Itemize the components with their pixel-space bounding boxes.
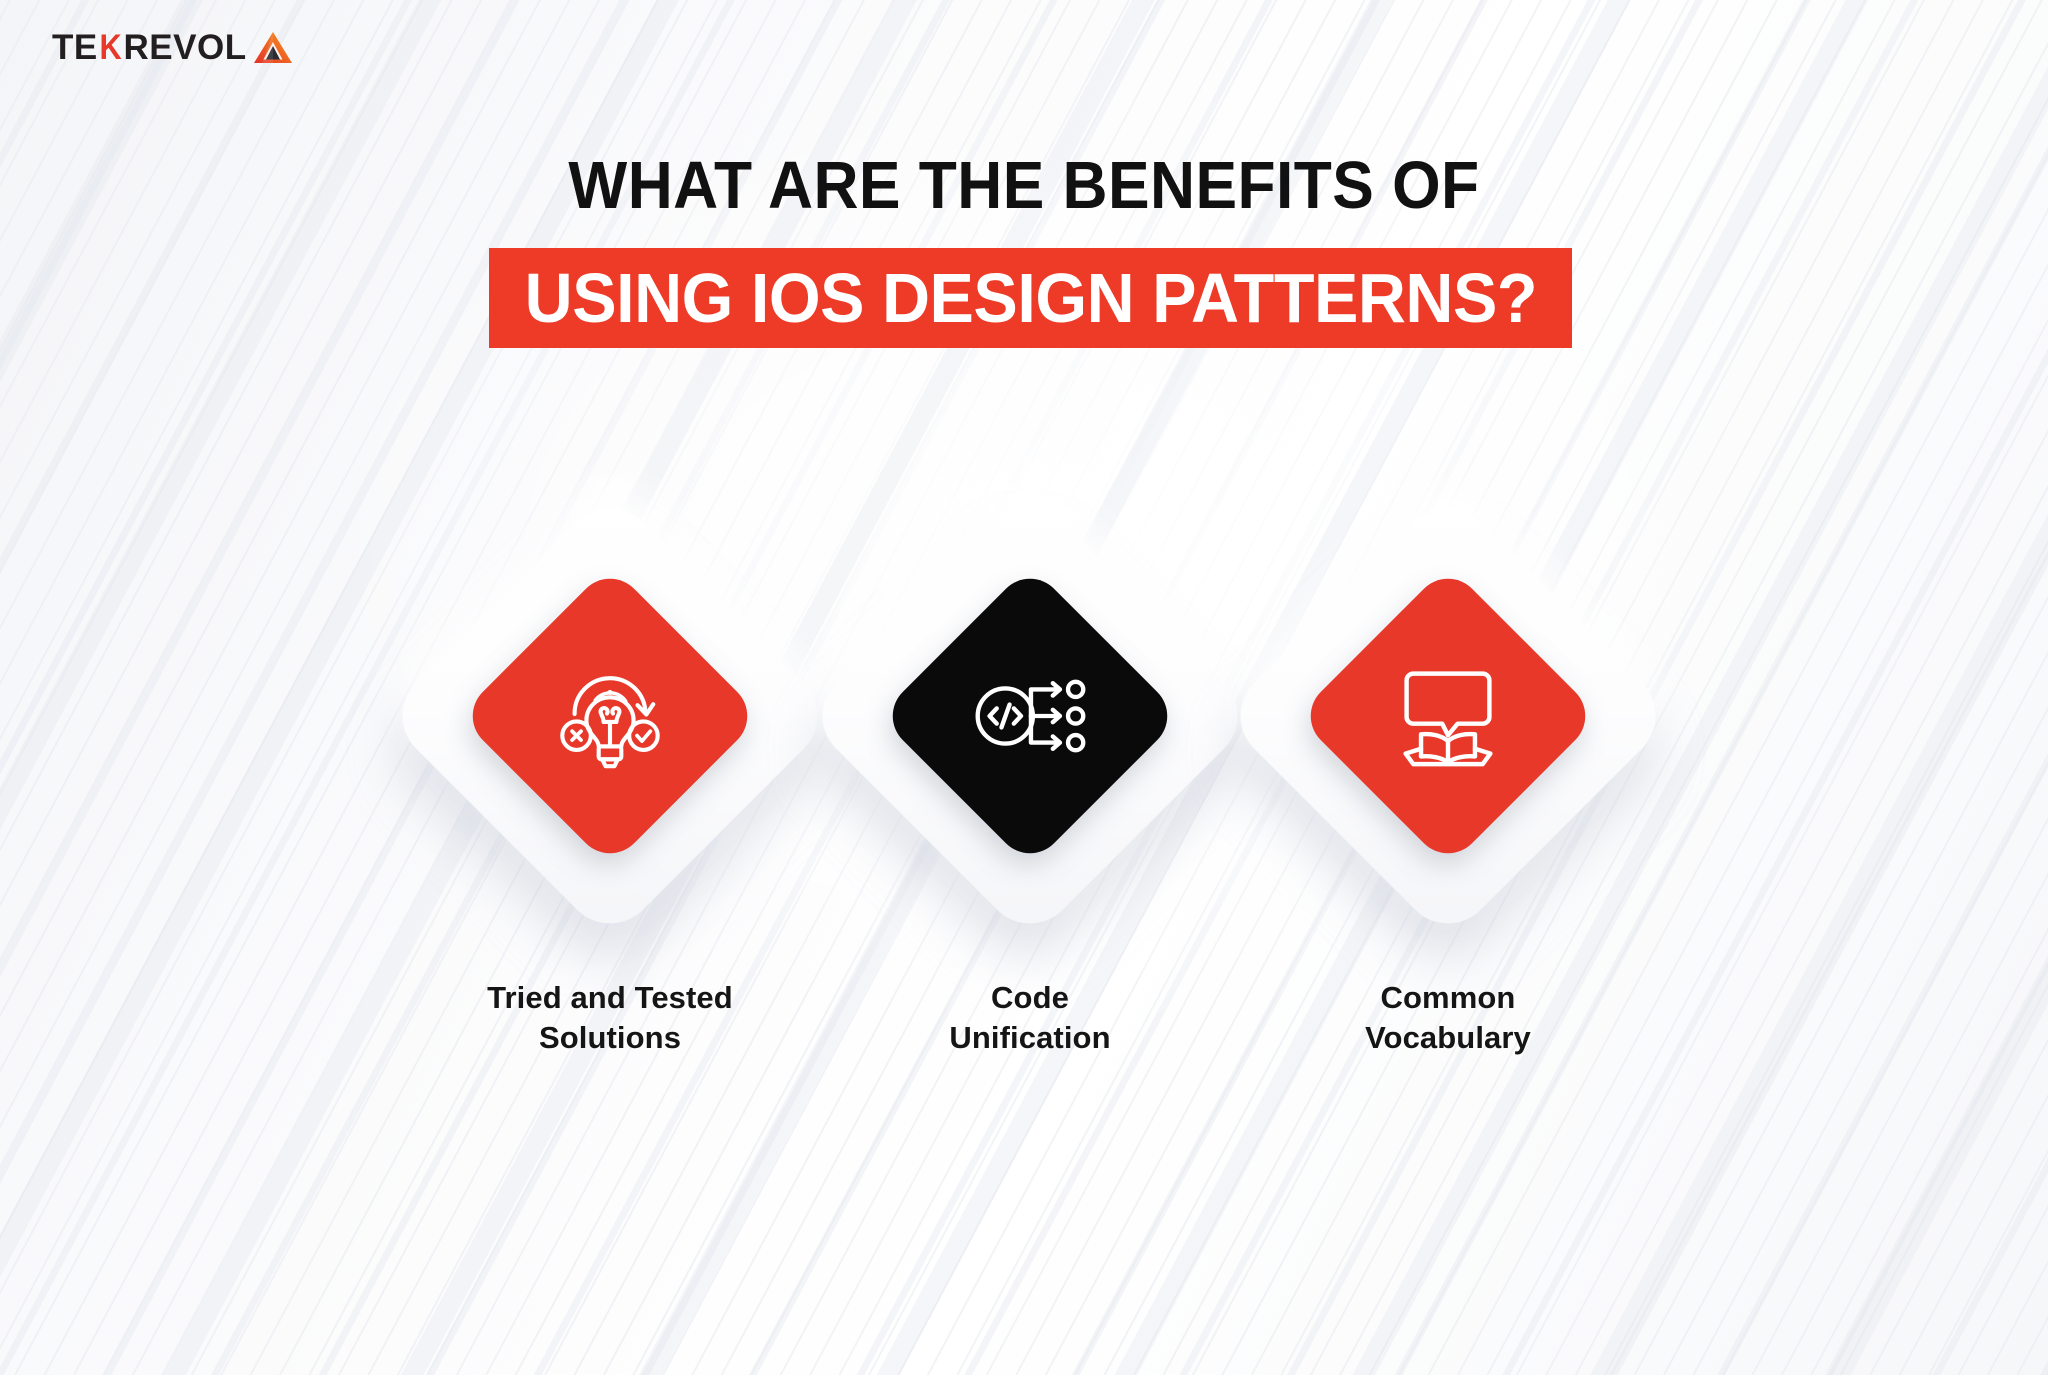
benefit-label-line2: Vocabulary <box>1238 1018 1658 1058</box>
diamond-zone <box>820 520 1240 960</box>
diamond-zone <box>400 520 820 960</box>
tekrevol-triangle-mark-icon <box>253 31 293 65</box>
logo-k-chevron: K <box>98 30 124 65</box>
headline-line-2: USING IOS DESIGN PATTERNS? <box>524 263 1536 333</box>
lightbulb-idea-icon <box>551 657 669 775</box>
logo-text-post: REVOL <box>124 28 247 67</box>
benefit-label-line1: Code <box>991 980 1069 1015</box>
logo-wordmark: TEKREVOL <box>52 30 247 65</box>
benefit-label-line2: Solutions <box>400 1018 820 1058</box>
diamond-inner-red-2[interactable] <box>1297 565 1600 868</box>
benefit-card-tried-and-tested[interactable]: Tried and Tested Solutions <box>400 520 820 1140</box>
benefit-card-code-unification[interactable]: Code Unification <box>820 520 1240 1140</box>
headline-line-1: WHAT ARE THE BENEFITS OF <box>72 152 1977 219</box>
icon-holder <box>503 609 717 823</box>
benefit-label: Tried and Tested Solutions <box>400 978 820 1057</box>
icon-holder <box>1341 609 1555 823</box>
icon-holder <box>923 609 1137 823</box>
benefit-card-common-vocabulary[interactable]: Common Vocabulary <box>1238 520 1658 1140</box>
tekrevol-logo[interactable]: TEKREVOL <box>52 30 293 65</box>
diamond-inner-black[interactable] <box>879 565 1182 868</box>
benefit-label: Common Vocabulary <box>1238 978 1658 1057</box>
diamond-inner-red-1[interactable] <box>459 565 762 868</box>
benefit-label-line2: Unification <box>820 1018 1240 1058</box>
benefits-row: Tried and Tested Solutions <box>0 520 2048 1140</box>
code-branch-arrows-icon <box>972 661 1088 771</box>
infographic-canvas: TEKREVOL WHAT ARE THE BENEFITS OF USING … <box>0 0 2048 1375</box>
benefit-label: Code Unification <box>820 978 1240 1057</box>
headline-banner: USING IOS DESIGN PATTERNS? <box>489 248 1572 348</box>
speech-bubble-book-icon <box>1392 664 1504 768</box>
diamond-zone <box>1238 520 1658 960</box>
benefit-label-line1: Tried and Tested <box>487 980 733 1015</box>
logo-text-pre: TE <box>52 28 98 67</box>
benefit-label-line1: Common <box>1381 980 1516 1015</box>
